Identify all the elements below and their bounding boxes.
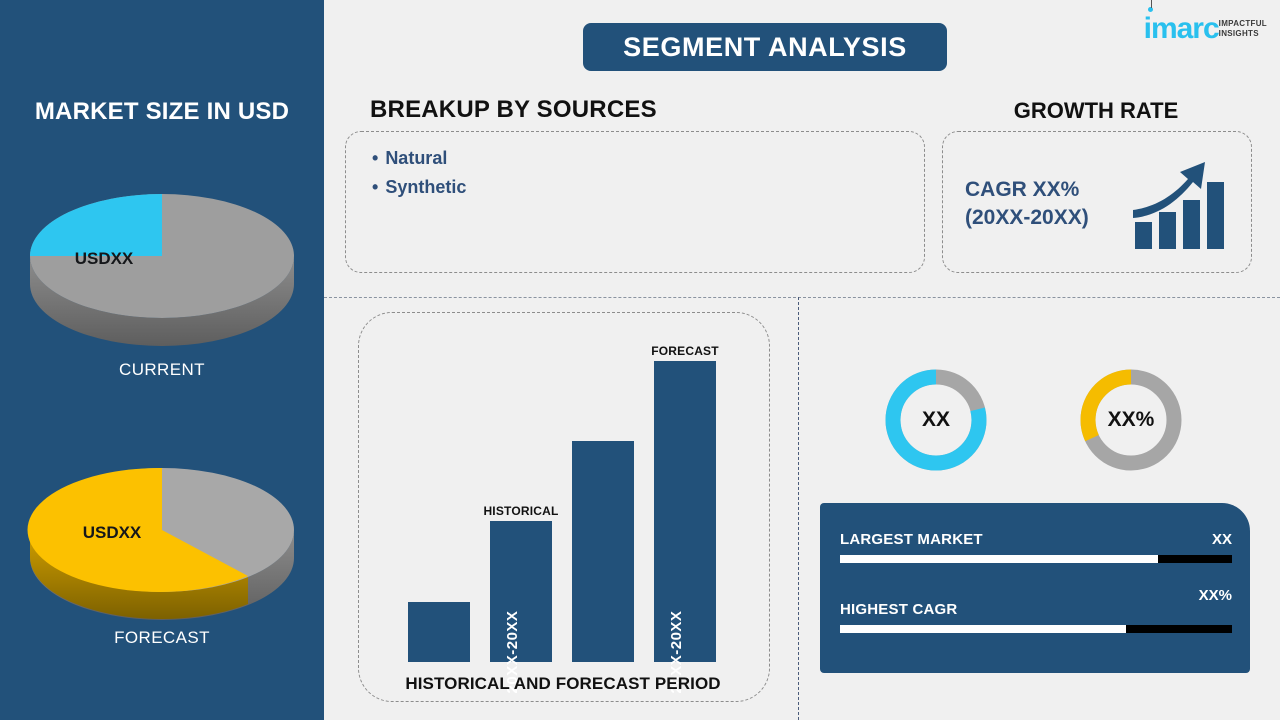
growth-heading: GROWTH RATE — [942, 98, 1250, 124]
list-item: Synthetic — [372, 173, 466, 202]
page-title: SEGMENT ANALYSIS — [583, 23, 947, 71]
chart-axis-label: HISTORICAL AND FORECAST PERIOD — [358, 674, 768, 694]
bar-1 — [408, 602, 470, 662]
historical-forecast-bar-chart: HISTORICAL 20XX-20XX FORECAST 20XX-20XX — [358, 312, 768, 700]
segment-analysis-infographic: MARKET SIZE IN USD USDXX USDXX CURRENT — [0, 0, 1280, 720]
market-stats-panel: LARGEST MARKET XX HIGHEST CAGR XX% — [820, 503, 1250, 673]
imarc-tagline: IMPACTFUL INSIGHTS — [1219, 19, 1267, 39]
cagr-line1: CAGR XX% — [965, 176, 1089, 204]
forecast-pie-svg: USDXX — [0, 440, 324, 620]
imarc-wordmark: imarc — [1144, 14, 1219, 44]
bar-2: HISTORICAL 20XX-20XX — [490, 521, 552, 662]
list-item: Natural — [372, 144, 466, 173]
imarc-tagline-line2: INSIGHTS — [1219, 29, 1267, 39]
stat-label: HIGHEST CAGR — [840, 601, 957, 618]
cagr-line2: (20XX-20XX) — [965, 204, 1089, 232]
horizontal-divider — [324, 297, 1280, 298]
stat-progress-track — [840, 555, 1232, 563]
growth-share-donut-label: XX% — [1077, 366, 1185, 474]
current-pie-svg: USDXX — [0, 166, 324, 346]
bar-4-annotation: FORECAST — [651, 344, 719, 358]
growth-bar-arrow-icon — [1131, 156, 1235, 256]
imarc-tagline-line1: IMPACTFUL — [1219, 19, 1267, 29]
sidebar-title: MARKET SIZE IN USD — [0, 98, 324, 126]
current-pie-chart: USDXX USDXX — [0, 166, 324, 346]
forecast-pie-caption: FORECAST — [0, 628, 324, 648]
growth-card: CAGR XX% (20XX-20XX) — [942, 131, 1252, 273]
stat-value: XX% — [1199, 587, 1232, 604]
market-size-sidebar: MARKET SIZE IN USD USDXX USDXX CURRENT — [0, 0, 324, 720]
forecast-pie-value-label: USDXX — [83, 523, 142, 542]
sources-heading: BREAKUP BY SOURCES — [370, 96, 657, 124]
bar-3 — [572, 441, 634, 662]
imarc-wordmark-text: imarc — [1144, 12, 1219, 45]
logo-divider — [1151, 0, 1152, 8]
stat-label: LARGEST MARKET — [840, 531, 983, 548]
growth-share-donut: XX% — [1077, 366, 1185, 474]
forecast-pie-chart: USDXX USDXX — [0, 440, 324, 620]
cagr-text: CAGR XX% (20XX-20XX) — [965, 176, 1089, 232]
largest-share-donut: XX — [882, 366, 990, 474]
stat-progress-fill — [840, 555, 1158, 563]
vertical-divider — [798, 297, 799, 720]
current-pie-value-label: USDXX — [75, 249, 134, 268]
current-pie-caption: CURRENT — [0, 360, 324, 380]
page-title-text: SEGMENT ANALYSIS — [623, 32, 907, 63]
bar-4: FORECAST 20XX-20XX — [654, 361, 716, 662]
stat-value: XX — [1212, 531, 1232, 548]
sources-card: Natural Synthetic — [345, 131, 925, 273]
stat-progress-track — [840, 625, 1232, 633]
largest-share-donut-label: XX — [882, 366, 990, 474]
stat-progress-fill — [840, 625, 1126, 633]
sources-list: Natural Synthetic — [372, 144, 466, 202]
imarc-logo: imarc IMPACTFUL INSIGHTS — [1144, 12, 1267, 46]
bar-2-annotation: HISTORICAL — [483, 504, 558, 518]
